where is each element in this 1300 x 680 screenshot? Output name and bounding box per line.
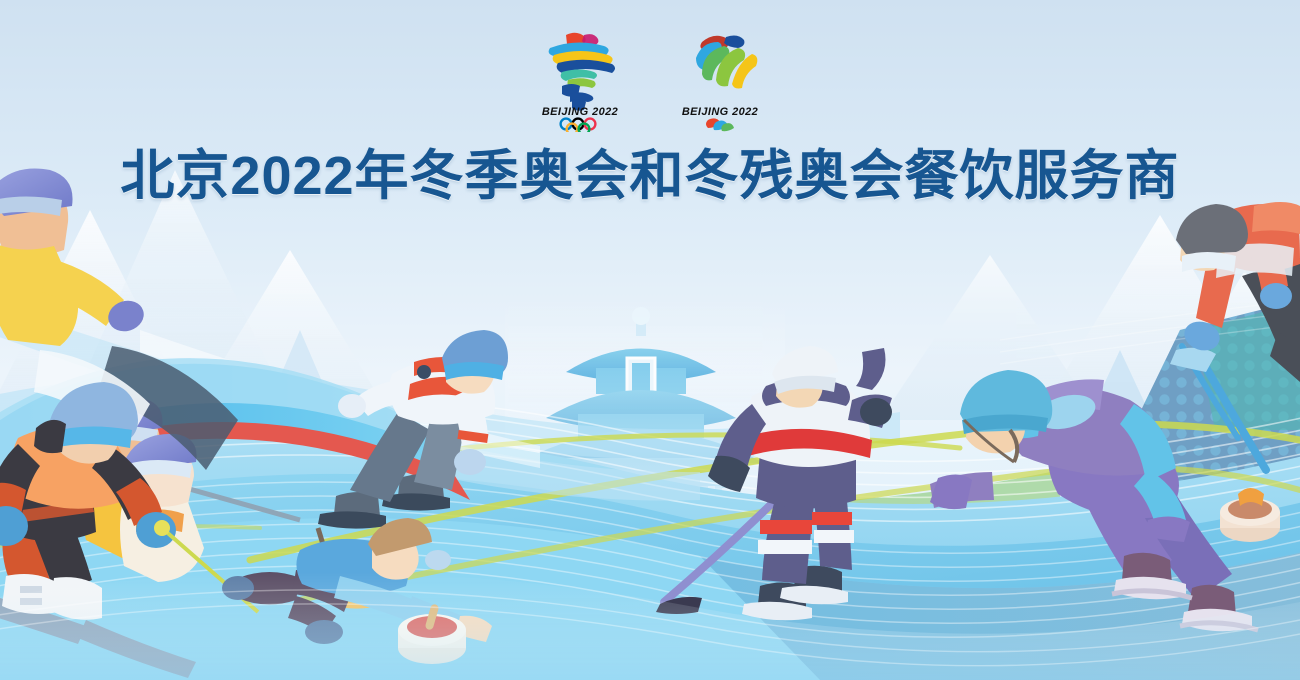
beijing-2022-olympic-emblem: BEIJING 2022 [532,28,628,132]
svg-text:BEIJING 2022: BEIJING 2022 [682,106,758,118]
beijing-2022-catering-banner: BEIJING 2022 [0,0,1300,680]
beijing-2022-paralympic-emblem: BEIJING 2022 [672,28,768,132]
paralympic-wordmark: BEIJING 2022 [682,106,758,118]
page-title: 北京2022年冬季奥会和冬残奥会餐饮服务商 [0,146,1300,206]
leap-glyph [696,36,757,89]
agitos-symbol [706,118,734,131]
olympic-rings [561,119,596,132]
svg-text:BEIJING 2022: BEIJING 2022 [542,106,618,118]
olympic-wordmark: BEIJING 2022 [542,106,618,118]
winter-dream-glyph [549,33,615,111]
emblem-lockup: BEIJING 2022 [0,28,1300,138]
